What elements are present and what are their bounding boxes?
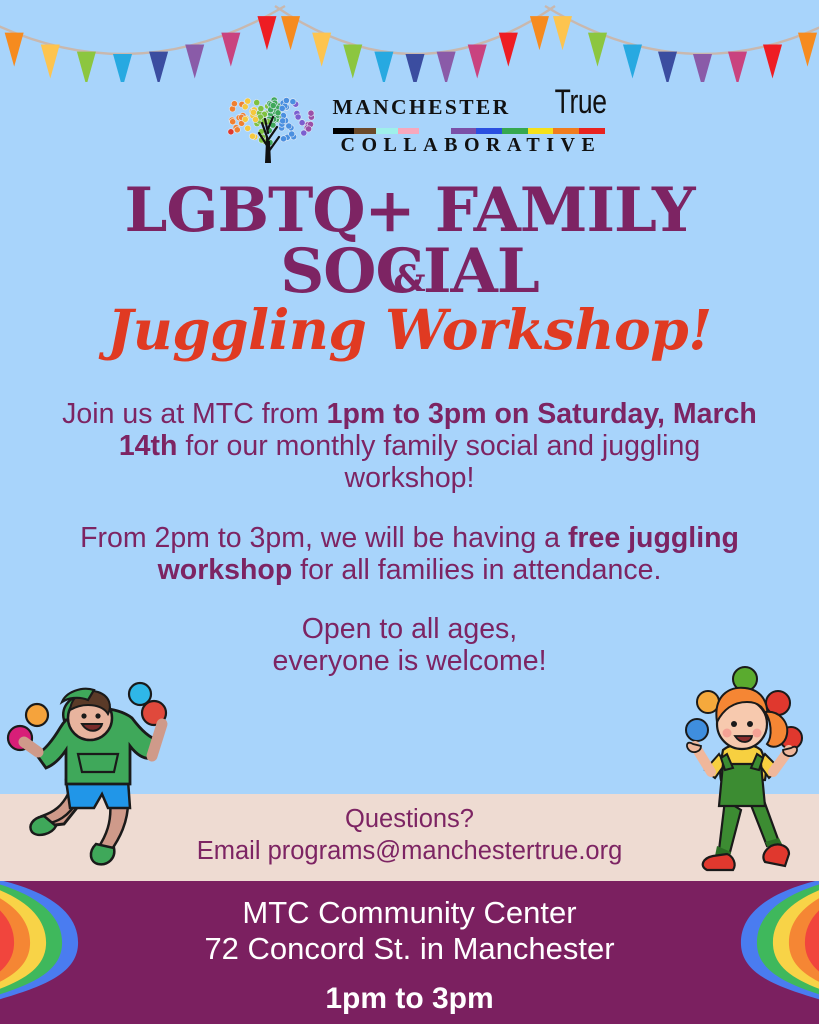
questions-block: Questions? Email programs@manchestertrue…	[0, 804, 819, 867]
bunting-flag	[77, 52, 96, 82]
p2-text-c: for all families in attendance.	[292, 554, 661, 586]
bunting-flag	[468, 45, 487, 79]
flyer-poster: MANCHESTER True COLLABORATIVE LGBTQ+ FAM…	[0, 0, 819, 1024]
paragraph-workshop-details: From 2pm to 3pm, we will be having a fre…	[60, 522, 759, 586]
questions-heading: Questions?	[0, 804, 819, 836]
bunting-flag	[798, 33, 817, 67]
bunting-flag	[374, 52, 393, 82]
bunting-flag	[149, 52, 168, 82]
rainbow-tree-icon	[215, 85, 323, 165]
bunting-flag	[281, 16, 300, 50]
footer-band: MTC Community Center 72 Concord St. in M…	[0, 881, 819, 1024]
p3-line-1: Open to all ages,	[302, 613, 517, 645]
bunting-flag	[406, 54, 425, 82]
organization-logo: MANCHESTER True COLLABORATIVE	[0, 84, 819, 166]
bunting-flag	[553, 16, 572, 50]
footer-time: 1pm to 3pm	[0, 982, 819, 1016]
p2-text-a: From 2pm to 3pm, we will be having a	[80, 522, 568, 554]
p3-line-2: everyone is welcome!	[272, 645, 546, 677]
bunting-flag	[312, 33, 331, 67]
logo-manchester-text: MANCHESTER	[333, 95, 511, 120]
bunting-flag	[658, 52, 677, 82]
p1-text-a: Join us at MTC from	[62, 398, 326, 430]
paragraph-event-details: Join us at MTC from 1pm to 3pm on Saturd…	[60, 398, 759, 495]
paragraph-open-invite: Open to all ages, everyone is welcome!	[60, 613, 759, 677]
bunting-flag	[5, 33, 24, 67]
bunting-flag	[693, 54, 712, 82]
bunting-flag	[763, 45, 782, 79]
bunting-flag	[113, 54, 132, 82]
bunting-flag	[343, 45, 362, 79]
bunting-decoration	[0, 0, 819, 82]
logo-true-text: True	[555, 83, 607, 122]
subtitle: Juggling Workshop!	[0, 300, 819, 361]
bunting-flag	[588, 33, 607, 67]
ampersand-separator: &	[0, 258, 819, 300]
footer-venue: MTC Community Center	[0, 895, 819, 931]
logo-collaborative-text: COLLABORATIVE	[341, 134, 602, 157]
footer-text-block: MTC Community Center 72 Concord St. in M…	[0, 895, 819, 1016]
bunting-flag	[185, 45, 204, 79]
bunting-flag	[728, 52, 747, 82]
p1-text-c: for our monthly family social and juggli…	[177, 430, 700, 494]
body-copy: Join us at MTC from 1pm to 3pm on Saturd…	[60, 398, 759, 677]
footer-address: 72 Concord St. in Manchester	[0, 931, 819, 967]
bunting-flag	[437, 52, 456, 82]
bunting-flag	[530, 16, 549, 50]
bunting-flag	[257, 16, 276, 50]
bunting-flag	[221, 33, 240, 67]
bunting-flag	[41, 45, 60, 79]
questions-email[interactable]: Email programs@manchestertrue.org	[0, 836, 819, 868]
bunting-flag	[623, 45, 642, 79]
bunting-flag	[499, 33, 518, 67]
